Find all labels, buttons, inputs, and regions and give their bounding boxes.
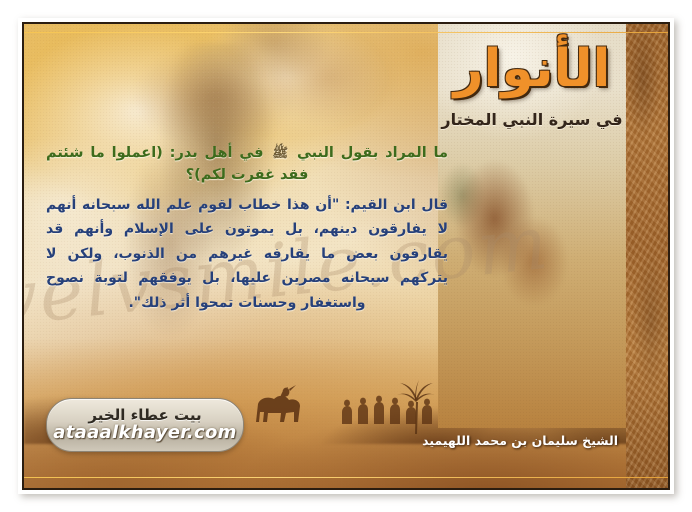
- question-heading: ما المراد بقول النبي ﷺ في أهل بدر: (اعمل…: [46, 142, 448, 187]
- poster-frame: الأنوار في سيرة النبي المختار velvsmile.…: [22, 22, 670, 490]
- salla-glyph-icon: ﷺ: [270, 146, 290, 161]
- author-credit: الشيخ سليمان بن محمد اللهيميد: [422, 433, 618, 448]
- poster-root: الأنوار في سيرة النبي المختار velvsmile.…: [0, 0, 692, 512]
- content-column: ما المراد بقول النبي ﷺ في أهل بدر: (اعمل…: [32, 142, 462, 315]
- right-decorative-band: [626, 24, 668, 488]
- palm-tree-icon: [396, 380, 436, 434]
- poster-subtitle: في سيرة النبي المختار: [438, 110, 626, 129]
- logo-url: ataaalkhayer.com: [53, 424, 236, 443]
- bottom-gold-rule: [24, 477, 668, 478]
- poster-artwork: الأنوار في سيرة النبي المختار velvsmile.…: [24, 24, 668, 488]
- question-heading-part-1: ما المراد بقول النبي: [297, 145, 448, 161]
- top-gold-rule: [24, 32, 668, 33]
- answer-body: قال ابن القيم: "أن هذا خطاب لقوم علم الل…: [46, 193, 448, 316]
- title-text-group: الأنوار في سيرة النبي المختار: [438, 24, 626, 428]
- poster-title: الأنوار: [438, 42, 626, 97]
- logo-arabic-name: بيت عطاء الخير: [88, 408, 201, 423]
- site-logo[interactable]: بيت عطاء الخير ataaalkhayer.com: [46, 398, 244, 452]
- question-heading-part-2: في أهل بدر: (اعملوا ما شئتم فقد غفرت لكم…: [46, 145, 308, 183]
